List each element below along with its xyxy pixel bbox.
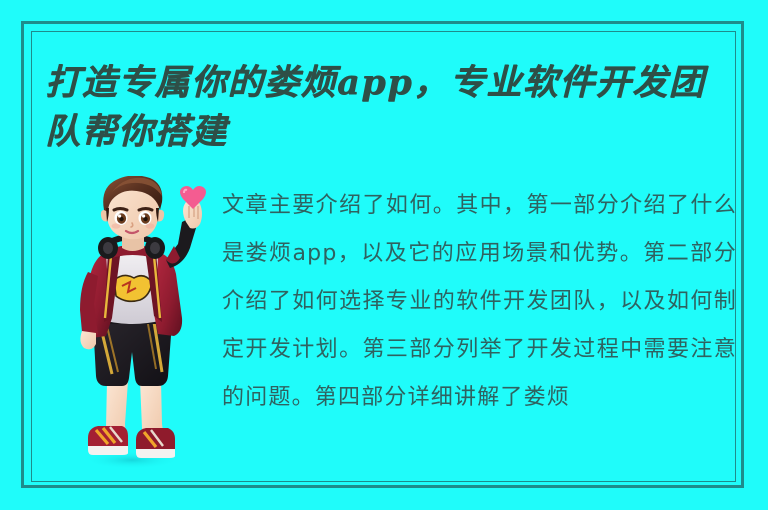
page-title: 打造专属你的娄烦app，专业软件开发团 队帮你搭建 xyxy=(45,58,735,156)
cheek-right xyxy=(146,223,155,228)
3d-cartoon-boy-character xyxy=(62,176,214,468)
pink-heart-icon xyxy=(180,186,206,209)
eyebrow-right xyxy=(139,209,152,211)
eye-right-glint xyxy=(142,214,145,217)
title-line-2: 队帮你搭建 xyxy=(45,107,735,156)
shoe-left xyxy=(88,426,128,455)
headphone-ear-left-inner xyxy=(103,242,113,254)
cheek-left xyxy=(112,223,121,228)
headphone-ear-right-inner xyxy=(150,242,160,254)
hand-left xyxy=(80,331,96,349)
title-line-1: 打造专属你的娄烦app，专业软件开发团 xyxy=(45,58,735,107)
eyebrow-left xyxy=(114,209,127,211)
shoe-right xyxy=(136,428,175,458)
eye-left-glint xyxy=(118,214,121,217)
poster-canvas: 打造专属你的娄烦app，专业软件开发团 队帮你搭建 文章主要介绍了如何。其中，第… xyxy=(0,0,768,510)
article-summary-text: 文章主要介绍了如何。其中，第一部分介绍了什么是娄烦app，以及它的应用场景和优势… xyxy=(222,182,737,422)
